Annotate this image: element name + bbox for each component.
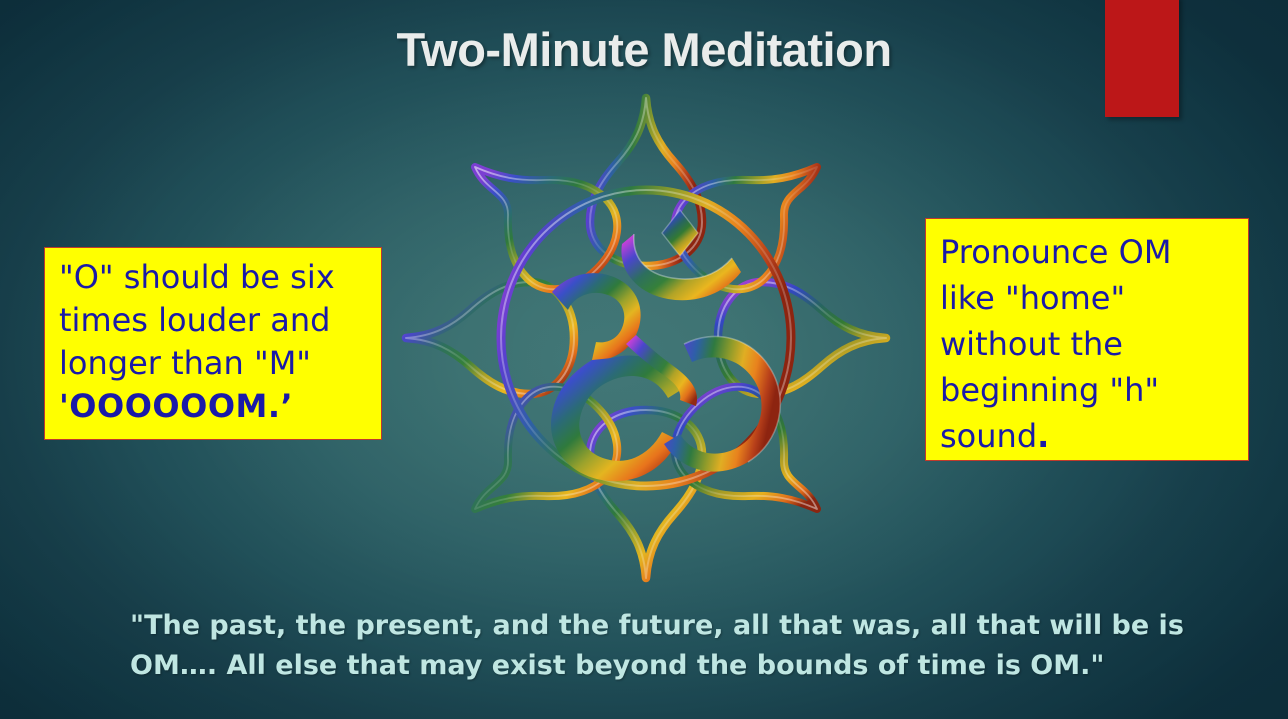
callout-left-pronunciation-emphasis: "O" should be six times louder and longe… <box>44 247 382 440</box>
callout-right-line-5: sound. <box>940 413 1248 459</box>
callout-left-line-3: longer than "M" <box>59 342 381 385</box>
om-lotus-mandala-icon <box>396 88 896 588</box>
callout-left-line-1: "O" should be six <box>59 256 381 299</box>
callout-right-line-5-text: sound <box>940 417 1037 455</box>
callout-right-pronunciation-guide: Pronounce OM like "home" without the beg… <box>925 218 1249 461</box>
callout-right-line-5-period: . <box>1037 417 1049 455</box>
callout-left-emphasis: 'OOOOOOM.’ <box>59 385 381 428</box>
callout-right-line-2: like "home" <box>940 275 1248 321</box>
callout-right-line-3: without the <box>940 321 1248 367</box>
quote-line-1: "The past, the present, and the future, … <box>130 606 1190 646</box>
callout-right-line-4: beginning "h" <box>940 367 1248 413</box>
page-title: Two-Minute Meditation <box>0 22 1288 77</box>
slide-canvas: Two-Minute Meditation <box>0 0 1288 719</box>
quote-line-2: OM…. All else that may exist beyond the … <box>130 646 1190 686</box>
callout-right-line-1: Pronounce OM <box>940 229 1248 275</box>
scripture-quote: "The past, the present, and the future, … <box>130 606 1190 686</box>
callout-left-line-2: times louder and <box>59 299 381 342</box>
